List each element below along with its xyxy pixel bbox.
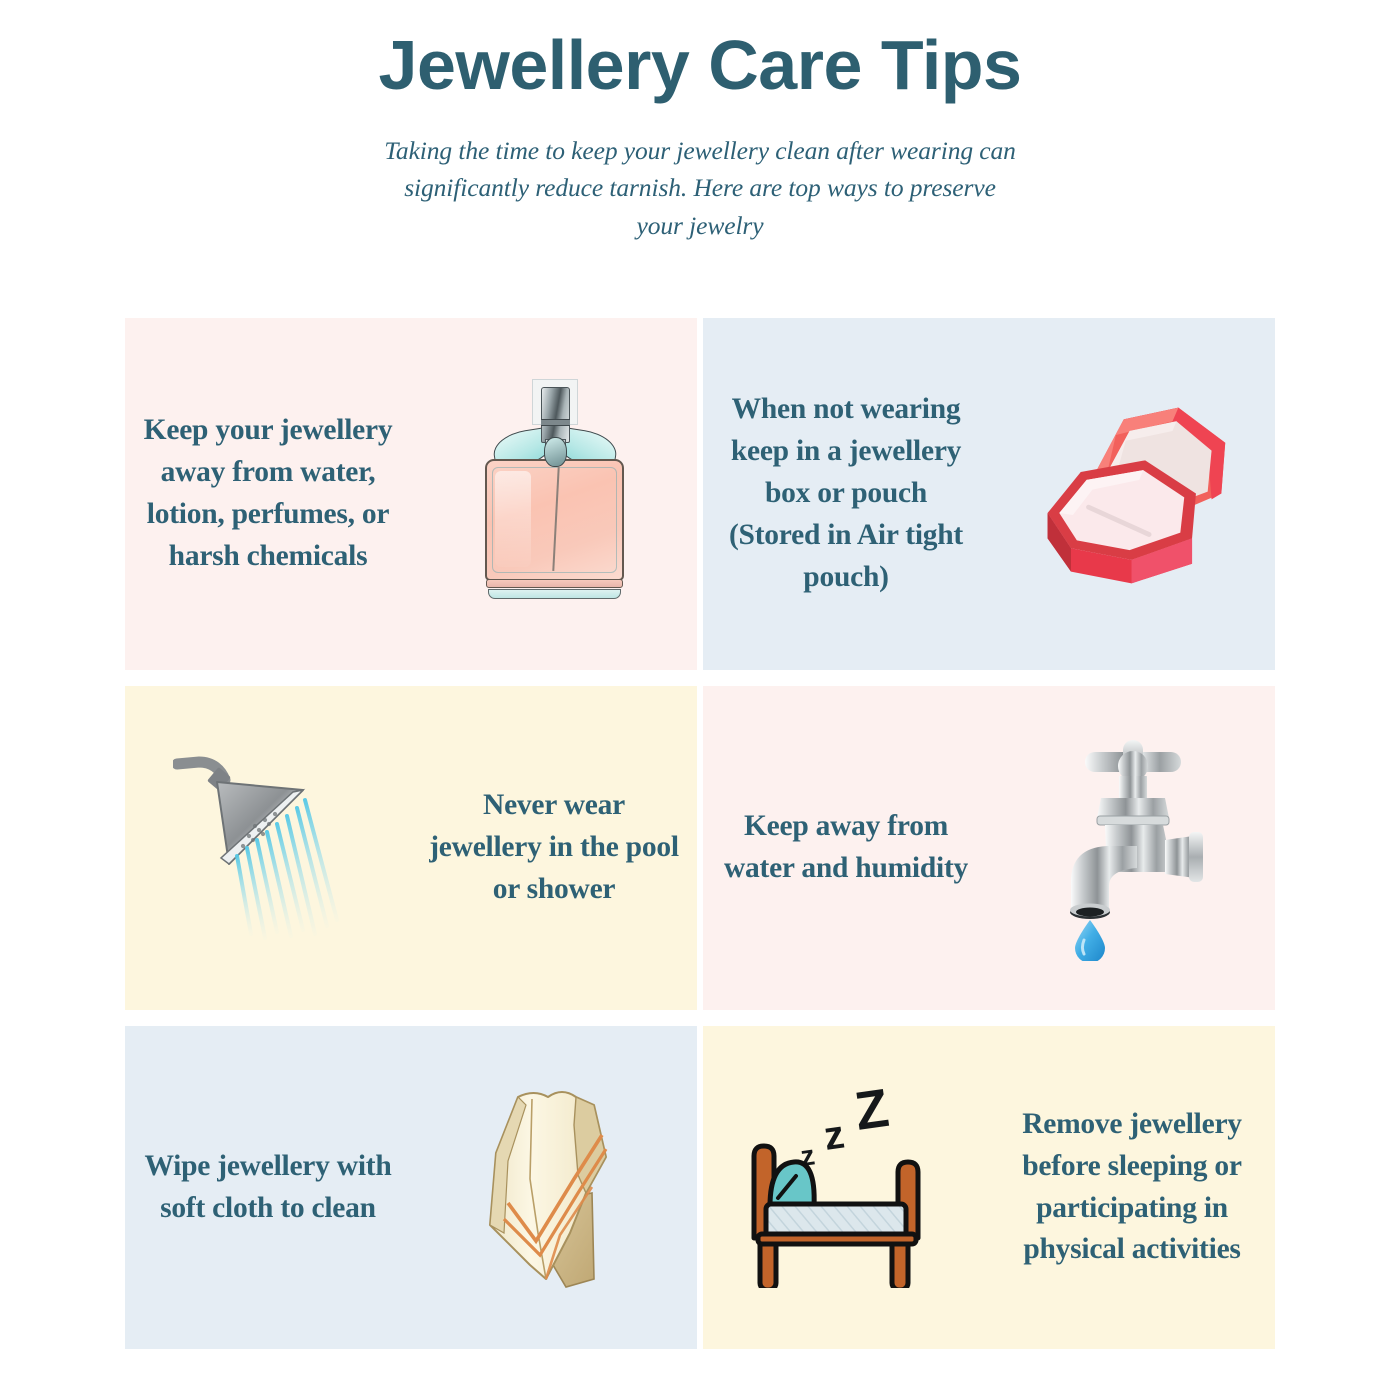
- tip-card-jewellery-box: When not wearing keep in a jewellery box…: [703, 318, 1275, 670]
- header: Jewellery Care Tips Taking the time to k…: [0, 0, 1400, 245]
- tip-card-water-humidity: Keep away from water and humidity: [703, 686, 1275, 1010]
- tip-text: Keep away from water and humidity: [717, 806, 975, 890]
- perfume-bottle-icon: [479, 379, 629, 609]
- faucet-drip-icon: [1045, 736, 1220, 961]
- tip-art-cell: [989, 392, 1275, 597]
- bed-sleep-icon: z z Z: [734, 1088, 959, 1288]
- shower-head-icon: [173, 748, 363, 948]
- tip-text-cell: Never wear jewellery in the pool or show…: [411, 785, 697, 911]
- tip-text: Wipe jewellery with soft cloth to clean: [139, 1146, 397, 1230]
- cloth-icon: [474, 1083, 634, 1293]
- page-subtitle: Taking the time to keep your jewellery c…: [380, 132, 1020, 245]
- ring-box-icon: [1030, 392, 1235, 597]
- tip-text: Remove jewellery before sleeping or part…: [1003, 1104, 1261, 1272]
- tip-art-cell: [989, 736, 1275, 961]
- tip-art-cell: [411, 379, 697, 609]
- tip-text-cell: When not wearing keep in a jewellery box…: [703, 389, 989, 598]
- infographic-page: Jewellery Care Tips Taking the time to k…: [0, 0, 1400, 1400]
- page-title: Jewellery Care Tips: [0, 22, 1400, 110]
- tip-text-cell: Wipe jewellery with soft cloth to clean: [125, 1146, 411, 1230]
- tip-art-cell: [125, 748, 411, 948]
- tip-card-water-lotion-perfume: Keep your jewellery away from water, lot…: [125, 318, 697, 670]
- tips-grid: Keep your jewellery away from water, lot…: [125, 318, 1275, 1355]
- tip-text: Never wear jewellery in the pool or show…: [425, 785, 683, 911]
- tip-text: Keep your jewellery away from water, lot…: [139, 410, 397, 578]
- tip-card-sleeping-activities: Remove jewellery before sleeping or part…: [703, 1026, 1275, 1349]
- svg-text:z: z: [821, 1112, 847, 1158]
- tip-art-cell: z z Z: [703, 1088, 989, 1288]
- svg-text:Z: Z: [851, 1088, 892, 1142]
- tip-text-cell: Keep your jewellery away from water, lot…: [125, 410, 411, 578]
- tip-text-cell: Keep away from water and humidity: [703, 806, 989, 890]
- tip-card-pool-shower: Never wear jewellery in the pool or show…: [125, 686, 697, 1010]
- tip-text-cell: Remove jewellery before sleeping or part…: [989, 1104, 1275, 1272]
- tip-card-soft-cloth: Wipe jewellery with soft cloth to clean: [125, 1026, 697, 1349]
- tip-art-cell: [411, 1083, 697, 1293]
- tip-text: When not wearing keep in a jewellery box…: [717, 389, 975, 598]
